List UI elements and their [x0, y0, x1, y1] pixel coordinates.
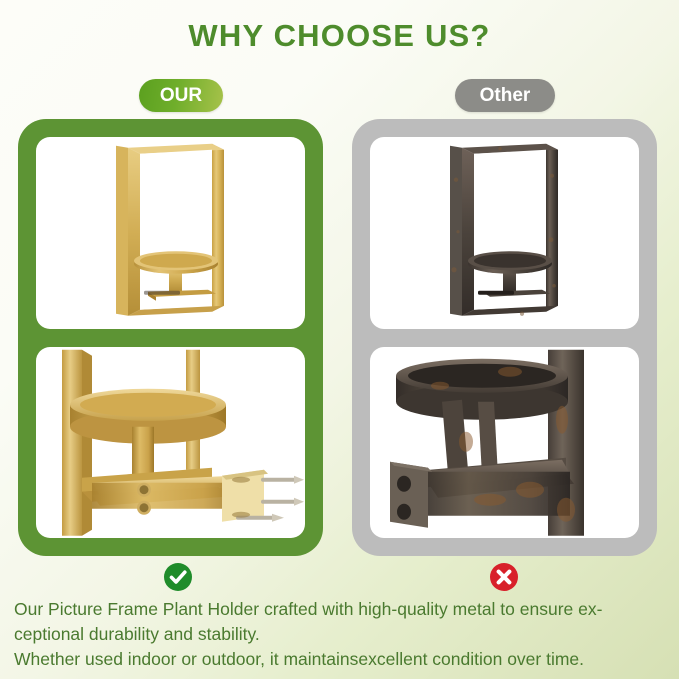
gold-picture-frame-plant-holder-image — [36, 137, 305, 329]
panel-ours — [18, 119, 323, 556]
gold-bracket-closeup-image — [36, 347, 305, 539]
rusty-picture-frame-plant-holder-image — [370, 137, 639, 329]
page-title: WHY CHOOSE US? — [0, 18, 679, 54]
badge-other: Other — [455, 79, 555, 112]
description-line-3: Whether used indoor or outdoor, it maint… — [14, 647, 669, 672]
description-line-2: ceptional durability and stability. — [14, 622, 669, 647]
rusty-bracket-closeup-image — [370, 347, 639, 539]
x-circle-icon — [489, 562, 519, 592]
badge-our: OUR — [139, 79, 223, 112]
panel-other — [352, 119, 657, 556]
description-line-1: Our Picture Frame Plant Holder crafted w… — [14, 597, 669, 622]
description-block: Our Picture Frame Plant Holder crafted w… — [14, 597, 669, 672]
card-ours-frame — [36, 137, 305, 329]
card-other-frame — [370, 137, 639, 329]
infographic-root: WHY CHOOSE US? OUR Other — [0, 0, 679, 679]
card-other-bracket — [370, 347, 639, 539]
check-circle-icon — [163, 562, 193, 592]
card-ours-bracket — [36, 347, 305, 539]
